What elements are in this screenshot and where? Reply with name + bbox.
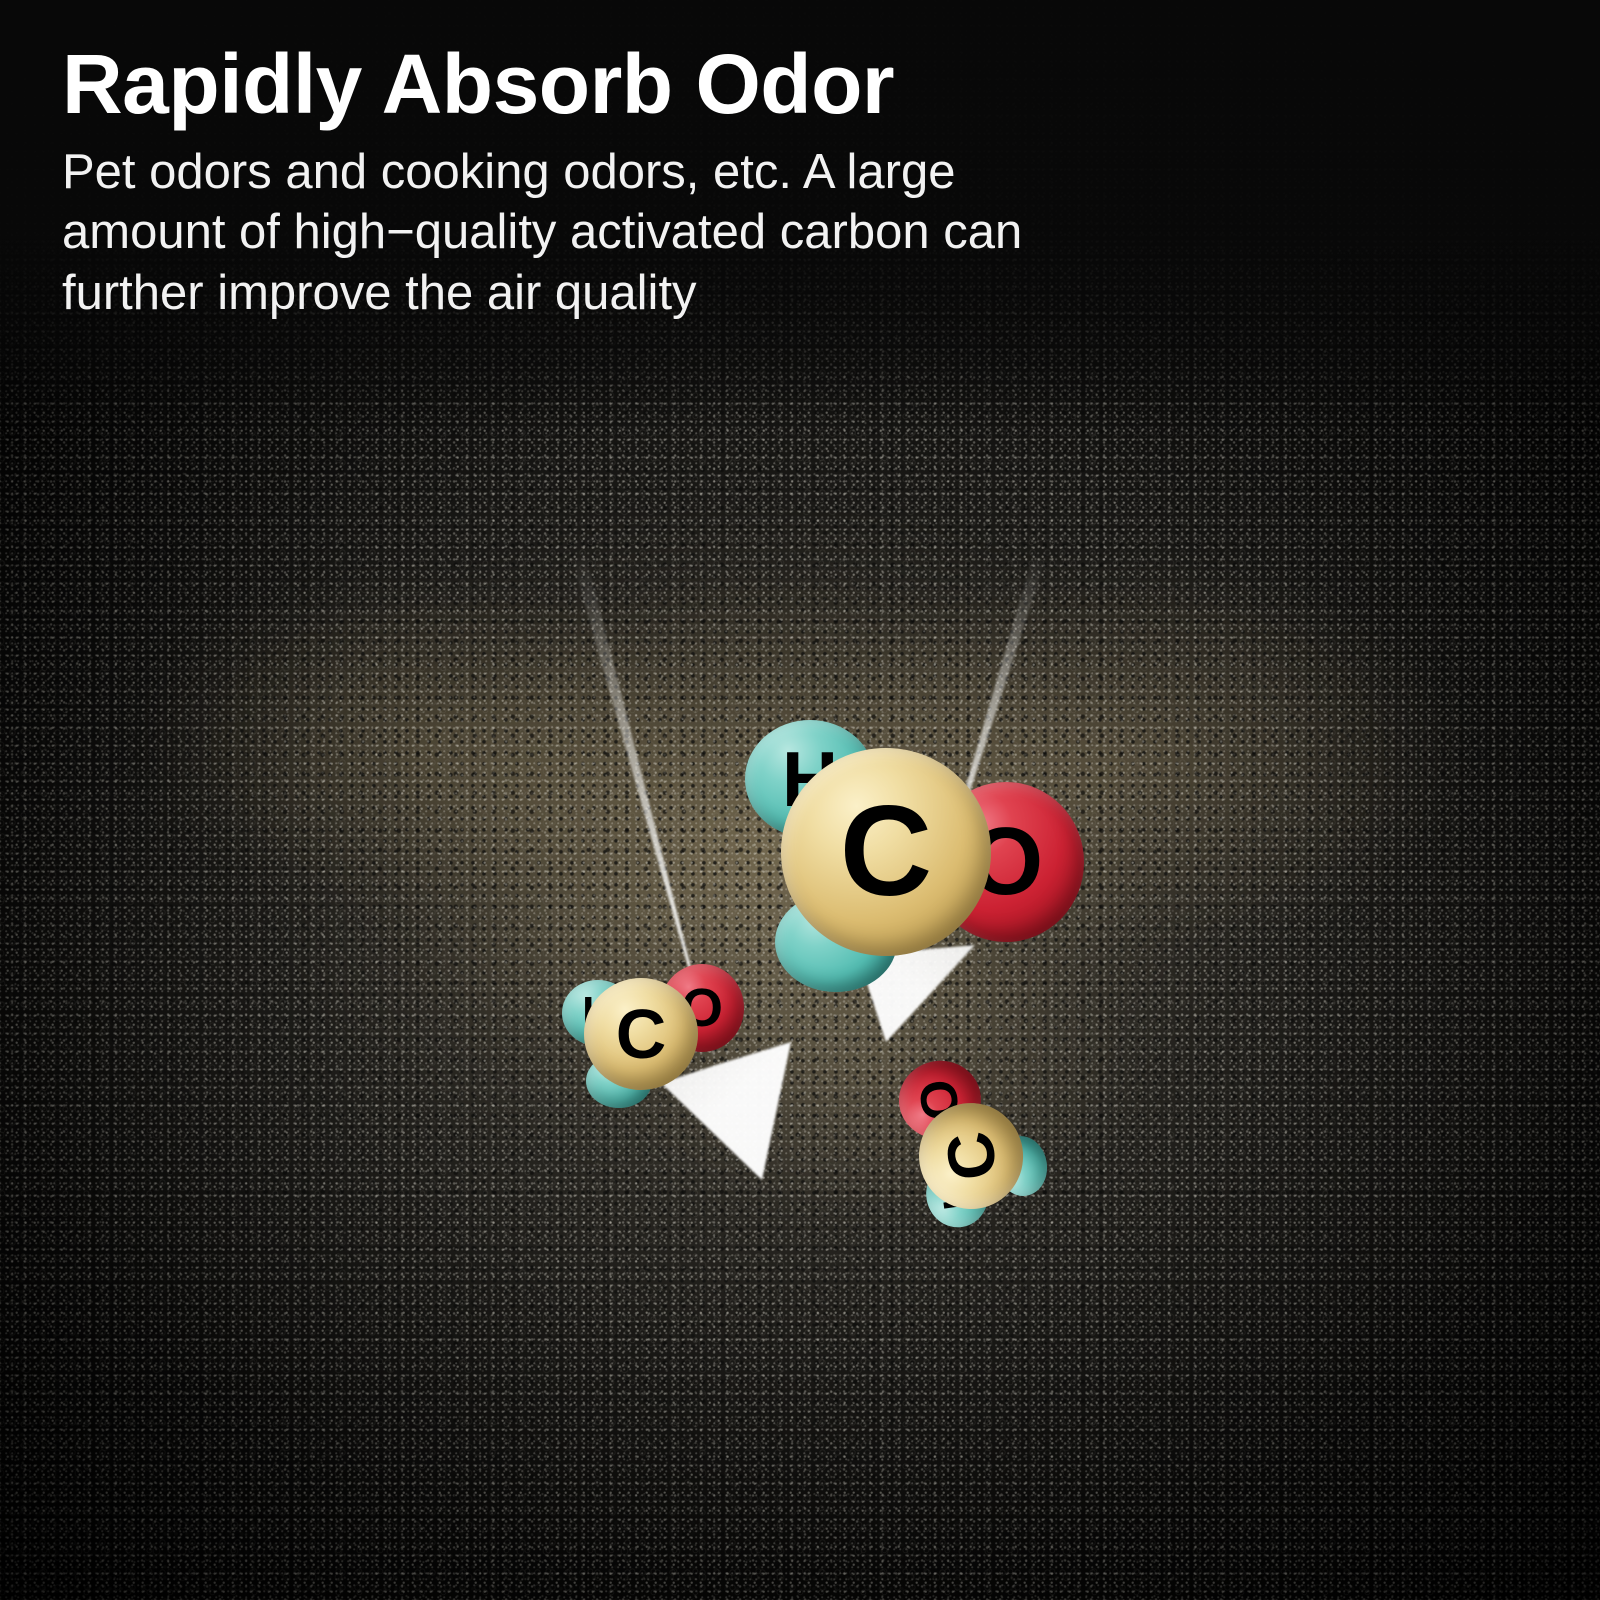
- atom-carbon: C: [584, 978, 698, 1090]
- odor-molecule-small-left: H O C: [562, 958, 747, 1103]
- product-feature-panel: Rapidly Absorb Odor Pet odors and cookin…: [0, 0, 1600, 1600]
- odor-molecule-small-bottom: H O C: [888, 1058, 1069, 1239]
- odor-molecule-large: H O C: [745, 710, 1075, 980]
- copy-block: Rapidly Absorb Odor Pet odors and cookin…: [62, 42, 1162, 324]
- page-title: Rapidly Absorb Odor: [62, 42, 1162, 128]
- atom-carbon: C: [781, 748, 991, 956]
- page-subtitle: Pet odors and cooking odors, etc. A larg…: [62, 142, 1072, 324]
- atom-label-c: C: [840, 788, 932, 916]
- atom-label-c: C: [616, 999, 667, 1069]
- atom-label-c: C: [935, 1128, 1007, 1184]
